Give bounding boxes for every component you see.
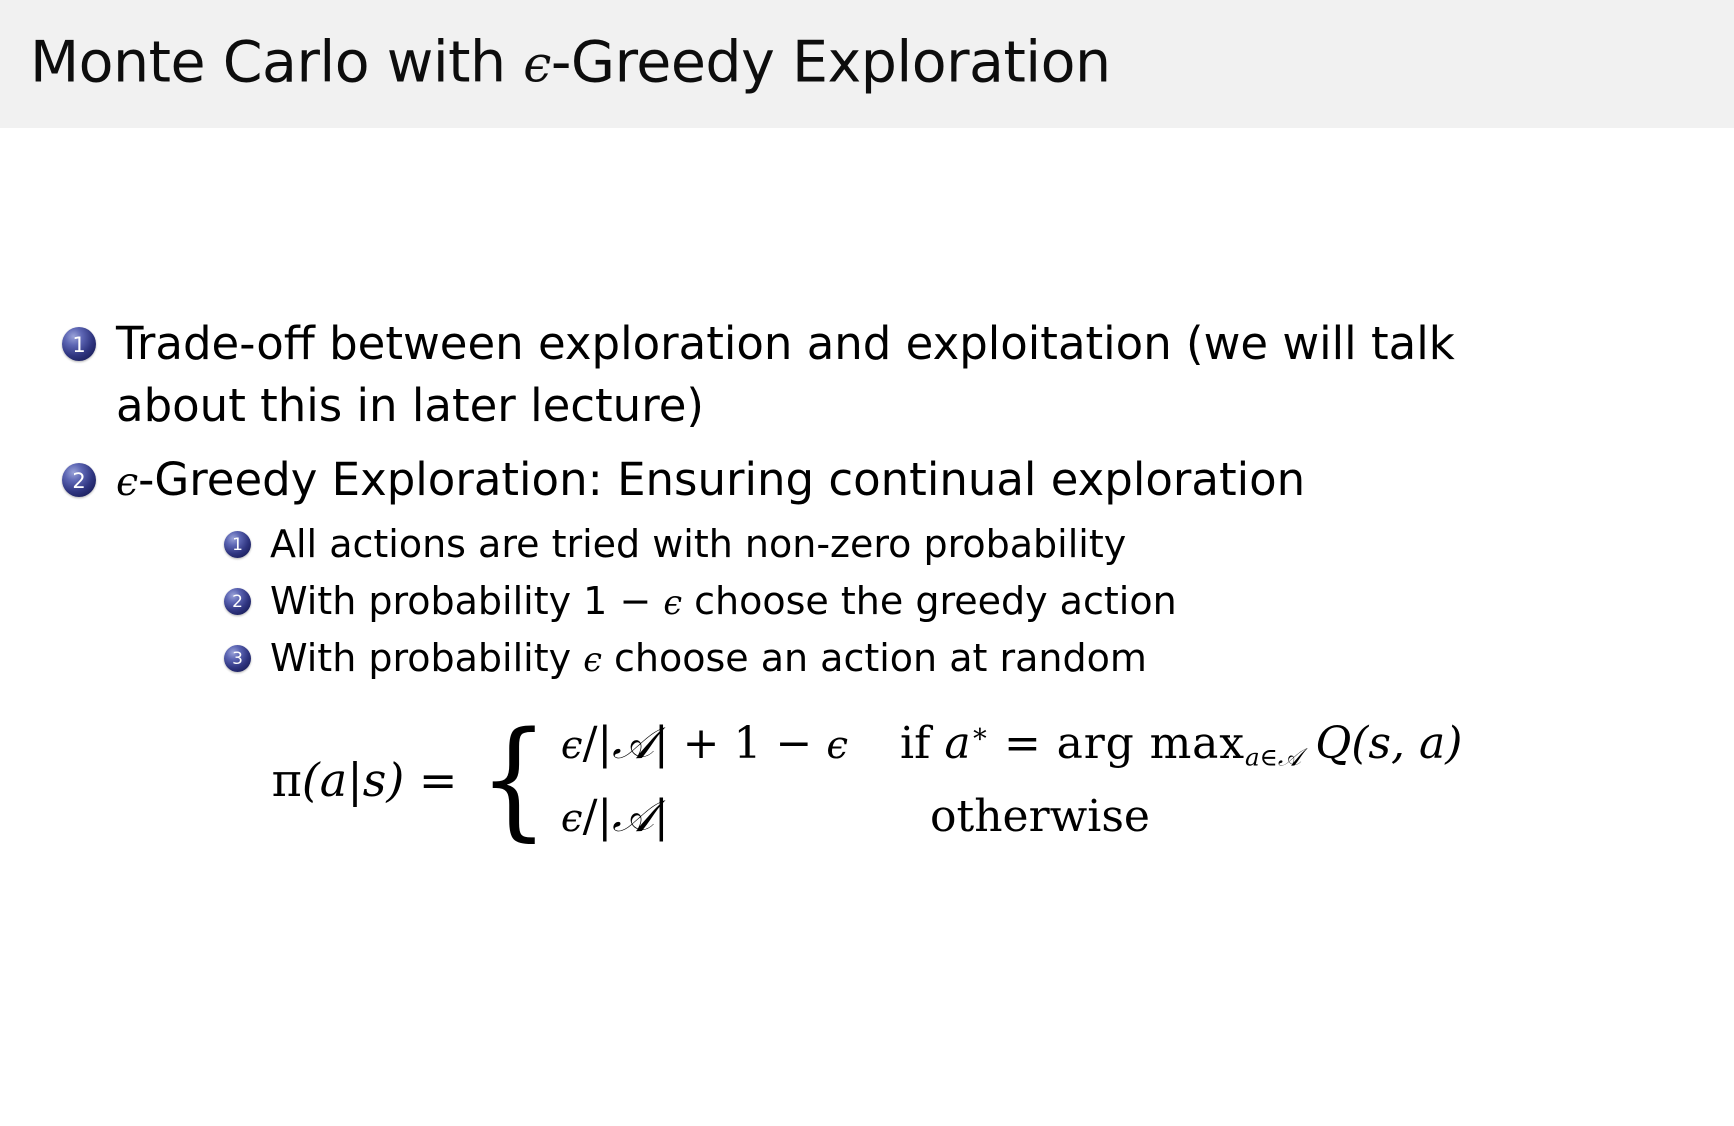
formula-row: π(a|s) = { ϵ/|𝒜| + 1 − ϵ if a∗ = arg max… xyxy=(272,718,1463,842)
sub-list-item-text: With probability ϵ choose an action at r… xyxy=(270,631,1147,686)
optimal-action-symbol: a xyxy=(944,718,970,769)
sub-text-pre: All actions are tried with non-zero prob… xyxy=(270,522,1126,566)
sub-list-item-text: All actions are tried with non-zero prob… xyxy=(270,517,1126,572)
list-item-text-rest: -Greedy Exploration: Ensuring continual … xyxy=(138,453,1305,506)
numbered-ball-icon-sub-2: 2 xyxy=(224,588,251,615)
epsilon-symbol: ϵ xyxy=(116,459,138,505)
epsilon-symbol: ϵ xyxy=(663,583,682,622)
pi-symbol: π xyxy=(272,753,302,807)
list-item: 1 Trade-off between exploration and expl… xyxy=(62,313,1682,437)
ball-number: 3 xyxy=(224,651,251,668)
numbered-ball-icon-1: 1 xyxy=(62,327,96,361)
sub-outline-list: 1 All actions are tried with non-zero pr… xyxy=(224,517,1305,686)
numbered-ball-icon-sub-1: 1 xyxy=(224,531,251,558)
epsilon-symbol: ϵ xyxy=(561,723,583,768)
slide-title-bar: Monte Carlo with ϵ-Greedy Exploration xyxy=(0,0,1734,128)
epsilon-symbol: ϵ xyxy=(523,35,551,94)
list-item-text: Trade-off between exploration and exploi… xyxy=(116,313,1586,437)
sub-list-item: 3 With probability ϵ choose an action at… xyxy=(224,631,1305,686)
if-keyword: if xyxy=(900,718,944,769)
action-set-symbol: 𝒜 xyxy=(612,718,654,769)
sub-text-pre: With probability xyxy=(270,636,583,680)
policy-formula: π(a|s) = { ϵ/|𝒜| + 1 − ϵ if a∗ = arg max… xyxy=(0,718,1734,842)
formula-lhs: π(a|s) = xyxy=(272,753,458,807)
sub-list-item-text: With probability 1 − ϵ choose the greedy… xyxy=(270,574,1177,629)
case-1-condition: if a∗ = arg maxa∈𝒜 Q(s, a) xyxy=(900,718,1462,771)
case-2-value: ϵ/|𝒜| xyxy=(561,791,848,842)
cases-grid: ϵ/|𝒜| + 1 − ϵ if a∗ = arg maxa∈𝒜 Q(s, a)… xyxy=(561,718,1463,842)
list-item: 2 ϵ-Greedy Exploration: Ensuring continu… xyxy=(62,449,1682,688)
ball-number: 1 xyxy=(62,335,96,356)
sub-list-item: 2 With probability 1 − ϵ choose the gree… xyxy=(224,574,1305,629)
argmax-subscript: a∈𝒜 xyxy=(1245,742,1301,771)
sub-text-pre: With probability 1 − xyxy=(270,579,663,623)
divide-abs: /| xyxy=(583,791,613,842)
page-title-suffix: -Greedy Exploration xyxy=(551,30,1111,96)
case-1-value: ϵ/|𝒜| + 1 − ϵ xyxy=(561,718,848,769)
star-superscript: ∗ xyxy=(971,718,990,749)
epsilon-symbol: ϵ xyxy=(561,796,583,841)
case-2-tail: | xyxy=(654,791,669,842)
divide-abs: /| xyxy=(583,718,613,769)
action-set-symbol: 𝒜 xyxy=(612,791,654,842)
page-title: Monte Carlo with ϵ-Greedy Exploration xyxy=(30,30,1111,96)
slide-body: 1 Trade-off between exploration and expl… xyxy=(0,128,1734,1126)
ball-number: 1 xyxy=(224,537,251,554)
list-item-text: ϵ-Greedy Exploration: Ensuring continual… xyxy=(116,449,1305,511)
numbered-ball-icon-sub-3: 3 xyxy=(224,645,251,672)
case-1-tail: | + 1 − xyxy=(654,718,827,769)
page-title-prefix: Monte Carlo with xyxy=(30,30,523,96)
sub-list-item: 1 All actions are tried with non-zero pr… xyxy=(224,517,1305,572)
epsilon-symbol: ϵ xyxy=(826,723,848,768)
numbered-ball-icon-2: 2 xyxy=(62,463,96,497)
ball-number: 2 xyxy=(224,594,251,611)
outline-list: 1 Trade-off between exploration and expl… xyxy=(62,313,1682,701)
case-2-condition: otherwise xyxy=(900,791,1462,842)
sub-text-post: choose the greedy action xyxy=(682,579,1177,623)
argmax-operator: = arg max xyxy=(989,718,1245,769)
q-function: Q(s, a) xyxy=(1301,718,1462,769)
formula-lhs-args: (a|s) xyxy=(302,753,404,807)
ball-number: 2 xyxy=(62,471,96,492)
equals-sign: = xyxy=(419,753,458,807)
left-brace: { xyxy=(480,730,549,830)
epsilon-symbol: ϵ xyxy=(583,640,602,679)
sub-text-post: choose an action at random xyxy=(602,636,1147,680)
